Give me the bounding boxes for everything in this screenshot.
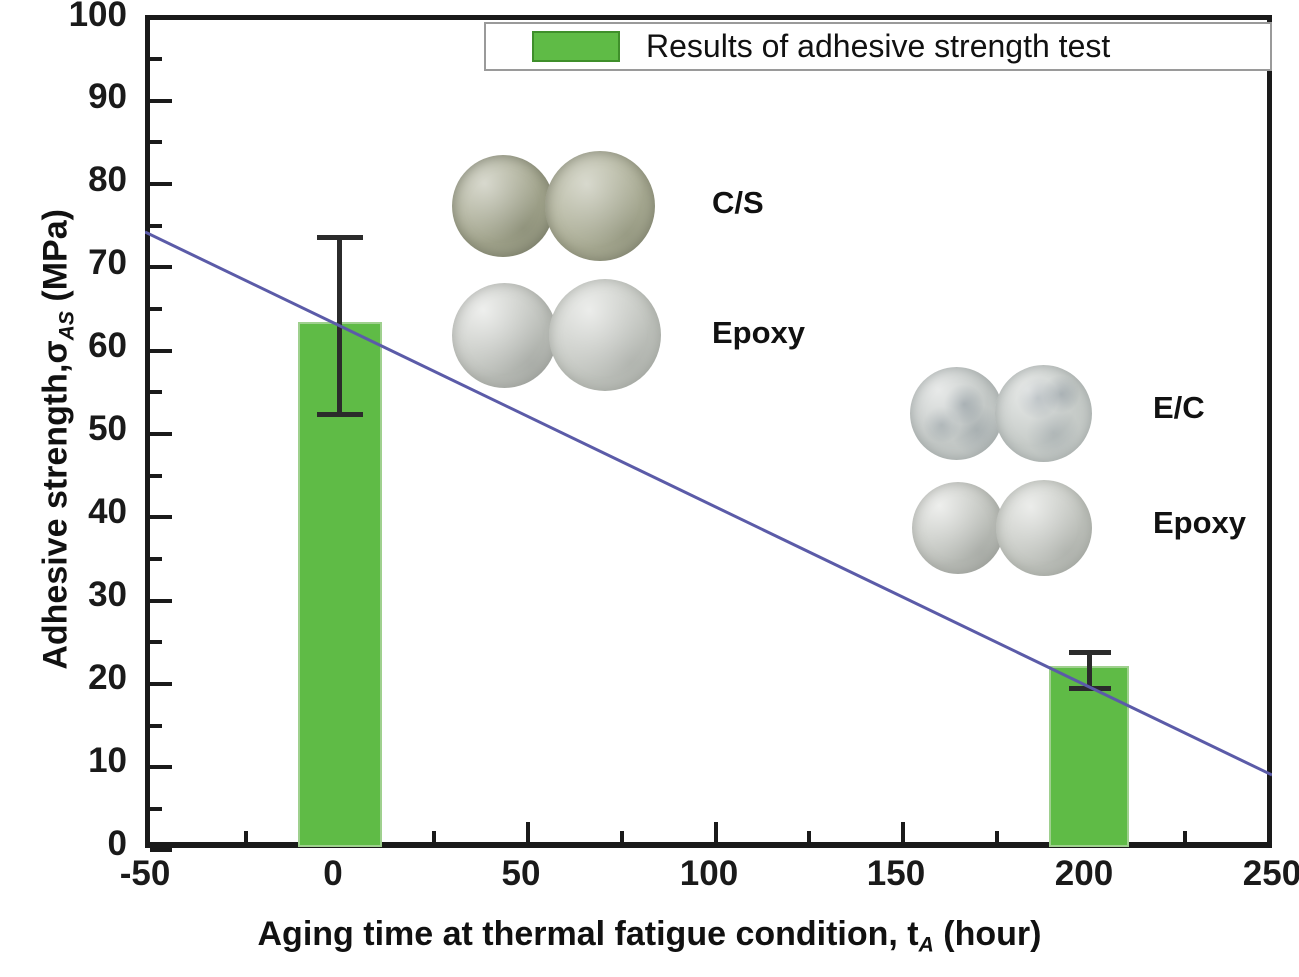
- chart-figure: C/S Epoxy E/C Epoxy: [0, 0, 1299, 977]
- y-axis-title-unit: (MPa): [37, 209, 75, 311]
- specimen-group-cs: C/S Epoxy: [452, 155, 872, 385]
- specimen-disc-right-icon: [996, 480, 1092, 576]
- y-tick-major-70: [150, 265, 172, 269]
- specimen-row-epoxy-bottom: Epoxy: [910, 480, 1299, 590]
- y-tick-minor-35: [150, 557, 162, 561]
- y-axis-title: Adhesive strength,σAS (MPa): [37, 29, 80, 849]
- specimen-disc-right-icon: [549, 279, 661, 391]
- x-tick-minor-125: [807, 831, 811, 842]
- specimen-disc-left-icon: [912, 482, 1004, 574]
- x-tick-minor-25: [432, 831, 436, 842]
- x-tick-label-100: 100: [639, 856, 779, 891]
- x-axis-title: Aging time at thermal fatigue condition,…: [0, 915, 1299, 958]
- y-tick-minor-95: [150, 57, 162, 61]
- legend[interactable]: Results of adhesive strength test: [484, 22, 1272, 71]
- x-axis-title-unit: (hour): [934, 915, 1042, 953]
- y-tick-minor-55: [150, 390, 162, 394]
- y-tick-minor-25: [150, 640, 162, 644]
- y-tick-major-10: [150, 765, 172, 769]
- specimen-disc-left-icon: [452, 155, 554, 257]
- x-tick-minor-m25: [244, 831, 248, 842]
- error-bar-cap-top-0: [317, 235, 363, 240]
- y-axis-title-subscript: AS: [55, 311, 78, 340]
- x-tick-label-0: 0: [263, 856, 403, 891]
- error-bar-cap-bottom-200: [1069, 686, 1111, 691]
- specimen-disc-left-icon: [910, 367, 1003, 460]
- specimen-label-epoxy: Epoxy: [1153, 505, 1246, 541]
- specimen-row-epoxy-top: Epoxy: [452, 283, 872, 393]
- specimen-row-ec: E/C: [910, 365, 1299, 475]
- x-tick-label-250: 250: [1202, 856, 1299, 891]
- x-tick-major-50: [526, 822, 530, 842]
- y-tick-major-20: [150, 682, 172, 686]
- x-axis-title-subscript: A: [919, 934, 934, 957]
- x-tick-label-150: 150: [826, 856, 966, 891]
- y-tick-major-30: [150, 599, 172, 603]
- y-tick-major-50: [150, 432, 172, 436]
- bar-200-hour[interactable]: [1049, 666, 1129, 847]
- error-bar-cap-bottom-0: [317, 412, 363, 417]
- y-tick-minor-5: [150, 807, 162, 811]
- y-tick-minor-85: [150, 140, 162, 144]
- error-bar-line-200: [1087, 650, 1092, 690]
- y-tick-minor-15: [150, 724, 162, 728]
- y-tick-major-40: [150, 515, 172, 519]
- x-tick-minor-75: [620, 831, 624, 842]
- x-tick-minor-175: [995, 831, 999, 842]
- x-axis-title-main: Aging time at thermal fatigue condition,…: [258, 915, 919, 953]
- specimen-disc-right-icon: [545, 151, 655, 261]
- error-bar-line-0: [337, 235, 342, 417]
- x-tick-major-150: [901, 822, 905, 842]
- x-tick-label-50: 50: [451, 856, 591, 891]
- specimen-label-epoxy: Epoxy: [712, 315, 805, 351]
- specimen-label-cs: C/S: [712, 185, 764, 221]
- specimen-group-ec: E/C Epoxy: [910, 365, 1299, 585]
- x-tick-label-200: 200: [1014, 856, 1154, 891]
- specimen-label-ec: E/C: [1153, 390, 1205, 426]
- y-tick-minor-45: [150, 474, 162, 478]
- y-tick-label-100: 100: [7, 0, 127, 32]
- y-tick-major-60: [150, 349, 172, 353]
- x-tick-label-m50: -50: [75, 856, 215, 891]
- y-tick-major-90: [150, 99, 172, 103]
- y-tick-major-0: [150, 848, 172, 852]
- specimen-disc-right-icon: [995, 365, 1092, 462]
- x-tick-minor-225: [1183, 831, 1187, 842]
- legend-swatch: [532, 31, 620, 62]
- specimen-disc-left-icon: [452, 283, 557, 388]
- x-tick-major-100: [714, 822, 718, 842]
- y-tick-minor-65: [150, 307, 162, 311]
- y-axis-title-main: Adhesive strength,σ: [37, 340, 75, 669]
- y-tick-major-80: [150, 182, 172, 186]
- error-bar-cap-top-200: [1069, 650, 1111, 655]
- specimen-row-cs: C/S: [452, 155, 872, 265]
- y-tick-minor-75: [150, 224, 162, 228]
- plot-area: C/S Epoxy E/C Epoxy: [145, 15, 1272, 848]
- legend-label: Results of adhesive strength test: [646, 28, 1110, 65]
